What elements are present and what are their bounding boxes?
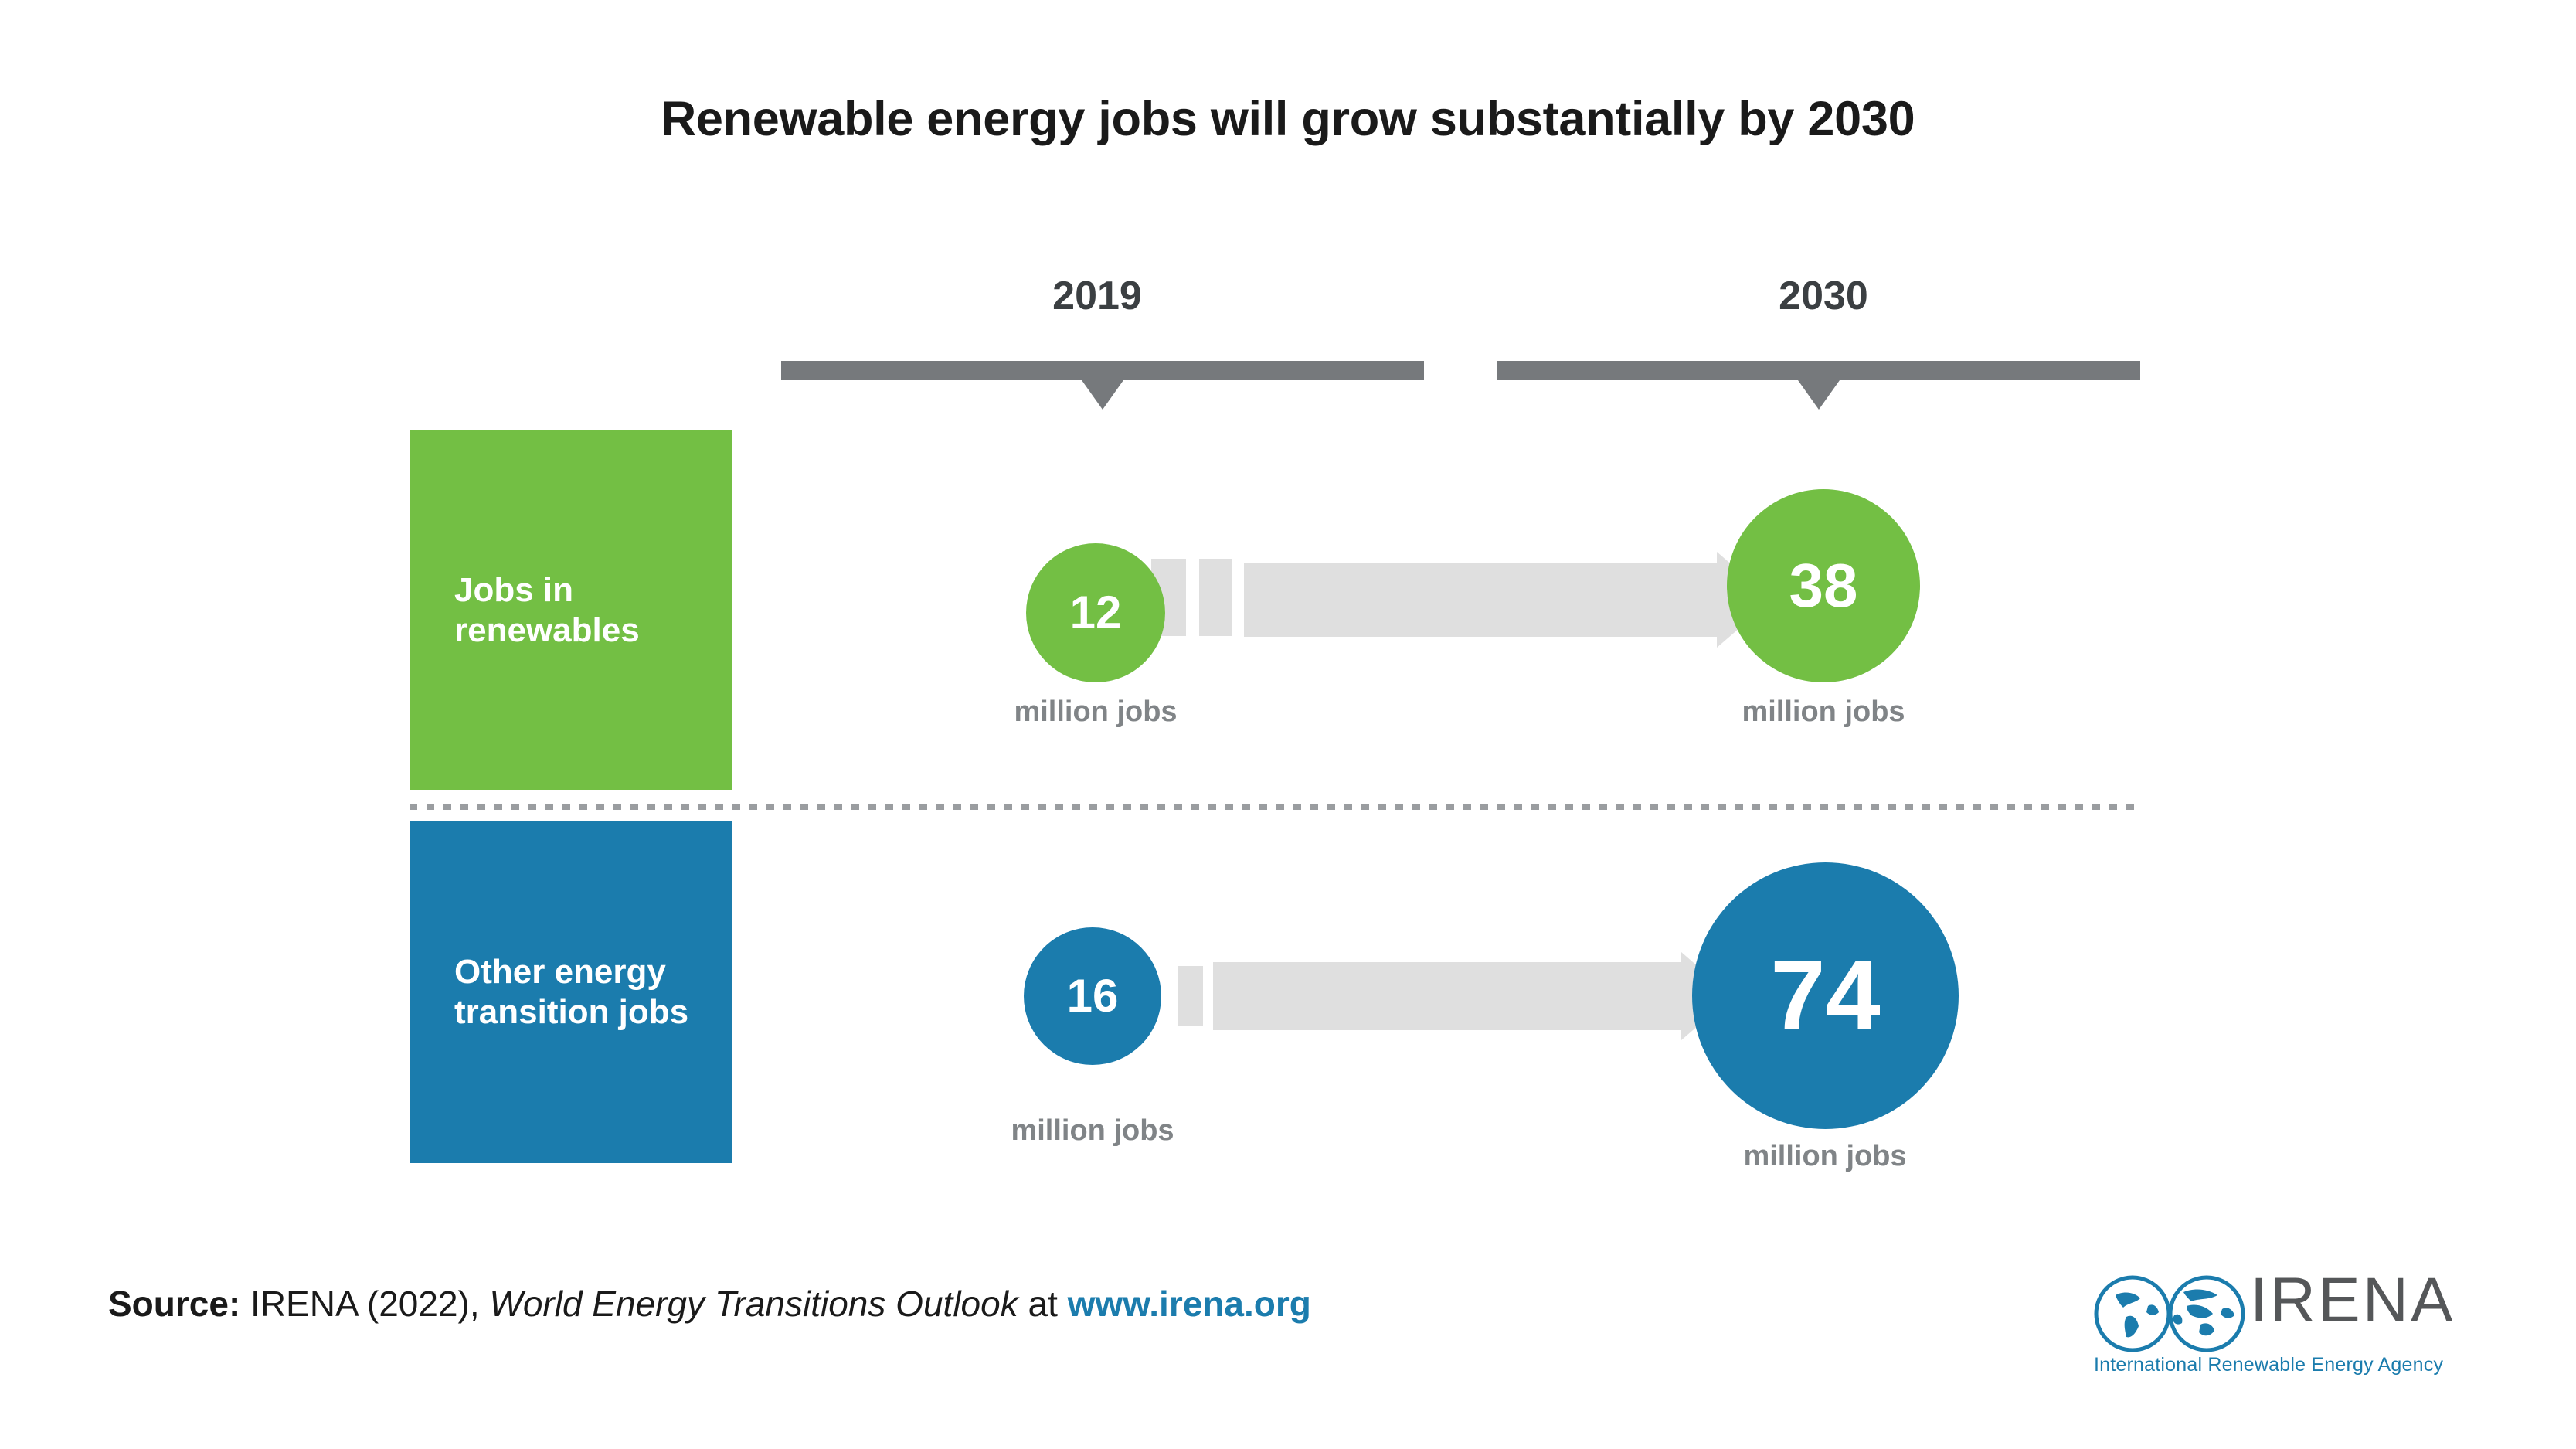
source-label: Source: <box>108 1284 240 1324</box>
source-url-link[interactable]: www.irena.org <box>1068 1284 1311 1324</box>
column-header-2019: 2019 <box>904 273 1290 319</box>
category-label-other: Other energy transition jobs <box>454 952 719 1032</box>
renewables-2019-value: 12 <box>1070 590 1122 636</box>
renewables-2019-unit: million jobs <box>980 696 1212 729</box>
irena-logo: IRENA International Renewable Energy Age… <box>2086 1267 2503 1414</box>
renewables-2030-bubble: 38 <box>1727 489 1920 682</box>
column-pointer-2019-icon <box>1082 380 1123 410</box>
category-label-renewables: Jobs in renewables <box>454 570 719 651</box>
category-block-renewables: Jobs in renewables <box>410 430 732 790</box>
other-2030-value: 74 <box>1770 947 1880 1046</box>
source-organisation: IRENA (2022), <box>250 1284 480 1324</box>
irena-logo-wordmark: IRENA <box>2250 1269 2455 1332</box>
other-arrow-segment-1 <box>1178 966 1203 1026</box>
category-block-other: Other energy transition jobs <box>410 821 732 1163</box>
irena-logo-tagline: International Renewable Energy Agency <box>2094 1354 2443 1376</box>
column-bar-2030 <box>1497 361 2140 380</box>
other-2019-bubble: 16 <box>1024 927 1161 1065</box>
other-2030-unit: million jobs <box>1709 1140 1941 1173</box>
renewables-2019-bubble: 12 <box>1026 543 1165 682</box>
other-2019-value: 16 <box>1067 973 1119 1019</box>
renewables-2030-value: 38 <box>1789 555 1858 617</box>
page-title: Renewable energy jobs will grow substant… <box>0 91 2576 147</box>
column-header-2030: 2030 <box>1630 273 2017 319</box>
column-pointer-2030-icon <box>1798 380 1840 410</box>
renewables-arrow-segment-2 <box>1199 559 1232 636</box>
source-line: Source: IRENA (2022), World Energy Trans… <box>108 1283 1311 1325</box>
globe-infinity-icon <box>2092 1272 2247 1355</box>
other-2030-bubble: 74 <box>1692 862 1959 1129</box>
other-2019-unit: million jobs <box>977 1114 1208 1148</box>
renewables-arrow-shaft <box>1244 563 1718 637</box>
row-divider <box>410 804 2140 810</box>
source-connector: at <box>1028 1284 1057 1324</box>
other-arrow-shaft <box>1213 962 1683 1030</box>
renewables-2030-unit: million jobs <box>1708 696 1939 729</box>
column-bar-2019 <box>781 361 1424 380</box>
infographic-canvas: Renewable energy jobs will grow substant… <box>0 0 2576 1449</box>
source-publication-title: World Energy Transitions Outlook <box>489 1284 1018 1324</box>
